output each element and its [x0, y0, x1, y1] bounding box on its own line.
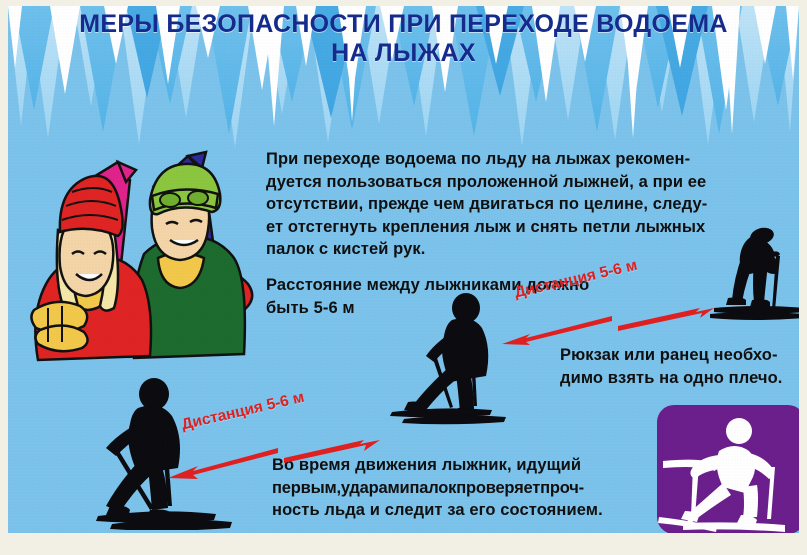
paragraph-main-line-4: ет отстегнуть крепления лыж и снять петл…	[266, 216, 799, 239]
title-line-2: НА ЛЫЖАХ	[8, 39, 799, 68]
title-line-1: МЕРЫ БЕЗОПАСНОСТИ ПРИ ПЕРЕХОДЕ ВОДОЕМА	[79, 10, 727, 38]
paragraph-backpack: Рюкзак или ранец необхо- димо взять на о…	[560, 344, 799, 389]
paragraph-main: При переходе водоема по льду на лыжах ре…	[266, 148, 799, 261]
distance-arrow-lower	[166, 436, 381, 480]
distance-arrow-upper	[500, 306, 715, 346]
paragraph-main-line-2: дуется пользоваться проложенной лыжней, …	[266, 171, 799, 194]
cross-country-skier-pictogram-box	[657, 405, 799, 533]
poster-field: МЕРЫ БЕЗОПАСНОСТИ ПРИ ПЕРЕХОДЕ ВОДОЕМА Н…	[8, 6, 799, 533]
paragraph-movement-line-3: ность льда и следит за его состоянием.	[272, 499, 642, 522]
paragraph-main-line-5: палок с кистей рук.	[266, 238, 799, 261]
safety-poster: МЕРЫ БЕЗОПАСНОСТИ ПРИ ПЕРЕХОДЕ ВОДОЕМА Н…	[0, 0, 807, 555]
paragraph-main-line-1: При переходе водоема по льду на лыжах ре…	[266, 148, 799, 171]
paragraph-backpack-line-2: димо взять на одно плечо.	[560, 367, 799, 390]
page-title: МЕРЫ БЕЗОПАСНОСТИ ПРИ ПЕРЕХОДЕ ВОДОЕМА Н…	[8, 10, 799, 68]
distance-label-upper: Дистанция 5-6 м	[513, 257, 639, 303]
paragraph-backpack-line-1: Рюкзак или ранец необхо-	[560, 344, 799, 367]
skier-couple-illustration	[18, 134, 276, 374]
paragraph-main-line-3: отсутствии, прежде чем двигаться по цели…	[266, 193, 799, 216]
